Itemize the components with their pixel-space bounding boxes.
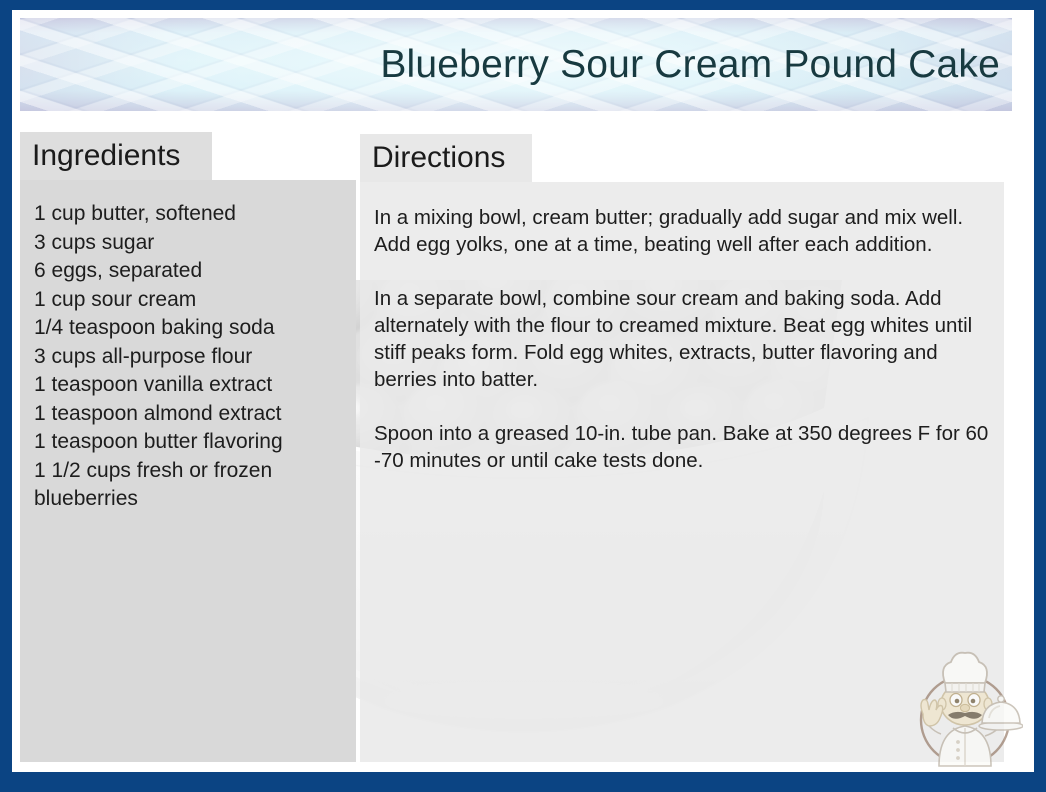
list-item: 1 teaspoon butter flavoring [34, 428, 342, 457]
list-item: 1 teaspoon almond extract [34, 400, 342, 429]
direction-paragraph: In a separate bowl, combine sour cream a… [374, 285, 990, 393]
list-item: 1 cup sour cream [34, 286, 342, 315]
list-item: 6 eggs, separated [34, 257, 342, 286]
page-title: Blueberry Sour Cream Pound Cake [380, 43, 1000, 87]
ingredients-heading: Ingredients [32, 141, 180, 171]
direction-paragraph: In a mixing bowl, cream butter; graduall… [374, 204, 990, 258]
ingredients-heading-tab: Ingredients [20, 132, 212, 180]
directions-heading: Directions [372, 143, 505, 173]
list-item: 1 teaspoon vanilla extract [34, 371, 342, 400]
list-item: 1 cup butter, softened [34, 200, 342, 229]
list-item: 3 cups all-purpose flour [34, 343, 342, 372]
list-item: 1 1/2 cups fresh or frozen blueberries [34, 457, 342, 514]
list-item: 1/4 teaspoon baking soda [34, 314, 342, 343]
list-item: 3 cups sugar [34, 229, 342, 258]
directions-heading-tab: Directions [360, 134, 532, 182]
recipe-page: Blueberry Sour Cream Pound Cake Ingredie… [12, 10, 1034, 772]
recipe-card: Blueberry Sour Cream Pound Cake Ingredie… [0, 0, 1046, 792]
title-banner: Blueberry Sour Cream Pound Cake [20, 18, 1012, 111]
chef-logo-icon [905, 638, 1023, 768]
ingredients-panel: 1 cup butter, softened 3 cups sugar 6 eg… [20, 180, 356, 762]
direction-paragraph: Spoon into a greased 10-in. tube pan. Ba… [374, 420, 990, 474]
